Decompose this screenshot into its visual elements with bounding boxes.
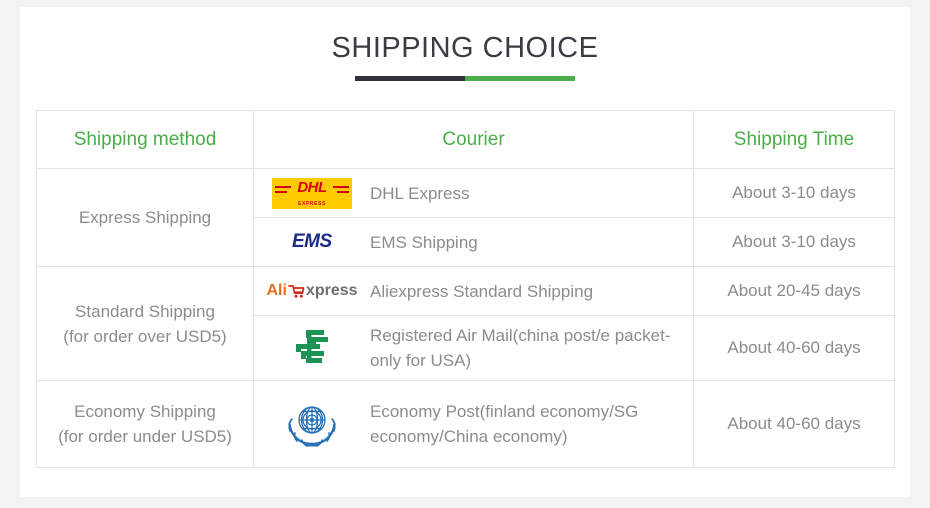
aliexpress-logo-xpress: xpress	[306, 282, 358, 300]
title-underline	[355, 76, 575, 81]
courier-cell-china-post: Registered Air Mail(china post/e packet-…	[254, 316, 694, 381]
shipping-method-cell-economy: Economy Shipping (for order under USD5)	[37, 381, 254, 468]
table-row: Express Shipping DHL EXPRESS	[37, 169, 895, 218]
table-row: Economy Shipping (for order under USD5)	[37, 381, 895, 468]
title-underline-green-segment	[465, 76, 575, 81]
shipping-method-label: Express Shipping	[79, 208, 211, 227]
title-block: SHIPPING CHOICE	[20, 29, 910, 81]
china-post-emblem-icon	[290, 328, 334, 368]
shipping-time-cell: About 40-60 days	[694, 381, 895, 468]
shipping-method-note: (for order over USD5)	[41, 324, 249, 349]
ems-logo-word: EMS	[292, 231, 332, 253]
table-header-row: Shipping method Courier Shipping Time	[37, 111, 895, 169]
china-post-logo	[254, 328, 370, 368]
shipping-time-cell: About 3-10 days	[694, 169, 895, 218]
table-header: Shipping method Courier Shipping Time	[37, 111, 895, 169]
table-body: Express Shipping DHL EXPRESS	[37, 169, 895, 468]
content-card: SHIPPING CHOICE Shipping method Courier …	[20, 7, 910, 497]
united-nations-emblem-icon	[284, 398, 340, 450]
shipping-table-wrapper: Shipping method Courier Shipping Time Ex…	[36, 110, 894, 468]
courier-name: Aliexpress Standard Shipping	[370, 279, 603, 304]
ems-logo: EMS	[254, 227, 370, 257]
shipping-time-cell: About 20-45 days	[694, 267, 895, 316]
table-row: Standard Shipping (for order over USD5) …	[37, 267, 895, 316]
shipping-method-cell-express: Express Shipping	[37, 169, 254, 267]
un-logo	[254, 398, 370, 450]
column-header-shipping-method: Shipping method	[37, 111, 254, 169]
column-header-shipping-time: Shipping Time	[694, 111, 895, 169]
shipping-choice-page: SHIPPING CHOICE Shipping method Courier …	[0, 0, 930, 508]
dhl-logo-word: DHL	[272, 179, 352, 196]
courier-cell-ems: EMS EMS Shipping	[254, 218, 694, 267]
shipping-method-cell-standard: Standard Shipping (for order over USD5)	[37, 267, 254, 381]
shipping-method-label: Standard Shipping	[41, 299, 249, 324]
courier-name: EMS Shipping	[370, 230, 488, 255]
courier-cell-aliexpress: Ali xpress	[254, 267, 694, 316]
courier-name: DHL Express	[370, 181, 480, 206]
shipping-time-cell: About 3-10 days	[694, 218, 895, 267]
title-underline-dark-segment	[355, 76, 465, 81]
aliexpress-logo-ali: Ali	[266, 282, 286, 300]
column-header-courier: Courier	[254, 111, 694, 169]
dhl-logo-sub: EXPRESS	[272, 201, 352, 207]
courier-name: Economy Post(finland economy/SG economy/…	[370, 399, 693, 449]
shopping-cart-icon	[288, 284, 305, 299]
shipping-method-label: Economy Shipping	[41, 399, 249, 424]
shipping-table: Shipping method Courier Shipping Time Ex…	[36, 110, 895, 468]
courier-cell-economy-post: Economy Post(finland economy/SG economy/…	[254, 381, 694, 468]
dhl-logo: DHL EXPRESS	[254, 178, 370, 209]
aliexpress-logo: Ali xpress	[254, 280, 370, 302]
page-title: SHIPPING CHOICE	[20, 29, 910, 67]
courier-cell-dhl: DHL EXPRESS DHL Express	[254, 169, 694, 218]
shipping-method-note: (for order under USD5)	[41, 424, 249, 449]
shipping-time-cell: About 40-60 days	[694, 316, 895, 381]
courier-name: Registered Air Mail(china post/e packet-…	[370, 323, 693, 373]
